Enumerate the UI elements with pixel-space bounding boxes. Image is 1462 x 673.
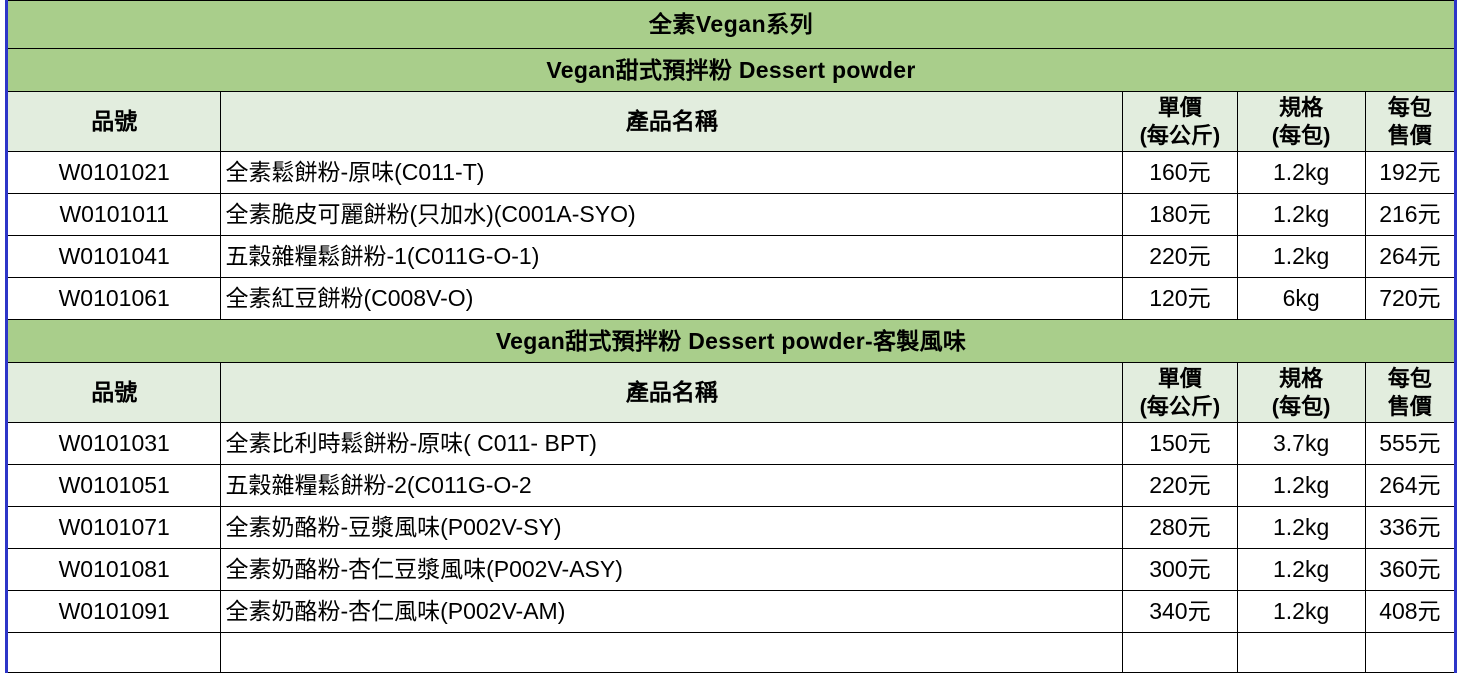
column-header-unit-price-line2: (每公斤)	[1127, 122, 1232, 150]
section-title-row-1: Vegan甜式預拌粉 Dessert powder	[7, 49, 1456, 92]
cell-spec	[1237, 633, 1365, 673]
cell-unit-price: 120元	[1123, 278, 1237, 320]
cell-spec: 1.2kg	[1237, 465, 1365, 507]
cell-name: 五穀雜糧鬆餅粉-2(C011G-O-2	[221, 465, 1123, 507]
column-header-code-2: 品號	[7, 363, 221, 423]
table-row: W0101051 五穀雜糧鬆餅粉-2(C011G-O-2 220元 1.2kg …	[7, 465, 1456, 507]
column-header-unit-price-1: 單價 (每公斤)	[1123, 92, 1237, 152]
cell-spec: 1.2kg	[1237, 507, 1365, 549]
table-row: W0101071 全素奶酪粉-豆漿風味(P002V-SY) 280元 1.2kg…	[7, 507, 1456, 549]
cell-spec: 1.2kg	[1237, 194, 1365, 236]
price-list-table: 全素Vegan系列 Vegan甜式預拌粉 Dessert powder 品號 產…	[5, 0, 1457, 673]
table-row-empty	[7, 633, 1456, 673]
cell-unit-price: 220元	[1123, 465, 1237, 507]
cell-code: W0101061	[7, 278, 221, 320]
cell-code: W0101071	[7, 507, 221, 549]
table-row: W0101091 全素奶酪粉-杏仁風味(P002V-AM) 340元 1.2kg…	[7, 591, 1456, 633]
column-header-code-1: 品號	[7, 92, 221, 152]
column-header-pack-price-1: 每包 售價	[1365, 92, 1455, 152]
cell-name: 全素奶酪粉-杏仁豆漿風味(P002V-ASY)	[221, 549, 1123, 591]
table-row: W0101041 五穀雜糧鬆餅粉-1(C011G-O-1) 220元 1.2kg…	[7, 236, 1456, 278]
cell-pack-price	[1365, 633, 1455, 673]
cell-name: 全素脆皮可麗餅粉(只加水)(C001A-SYO)	[221, 194, 1123, 236]
cell-name: 全素奶酪粉-豆漿風味(P002V-SY)	[221, 507, 1123, 549]
cell-name: 全素鬆餅粉-原味(C011-T)	[221, 152, 1123, 194]
section-title-1: Vegan甜式預拌粉 Dessert powder	[7, 49, 1456, 92]
cell-code: W0101031	[7, 423, 221, 465]
cell-name: 五穀雜糧鬆餅粉-1(C011G-O-1)	[221, 236, 1123, 278]
table-row: W0101011 全素脆皮可麗餅粉(只加水)(C001A-SYO) 180元 1…	[7, 194, 1456, 236]
cell-code: W0101091	[7, 591, 221, 633]
cell-name	[221, 633, 1123, 673]
cell-unit-price: 160元	[1123, 152, 1237, 194]
column-header-unit-price-line1: 單價	[1127, 365, 1232, 393]
column-header-row-1: 品號 產品名稱 單價 (每公斤) 規格 (每包) 每包 售價	[7, 92, 1456, 152]
cell-unit-price: 220元	[1123, 236, 1237, 278]
column-header-pack-price-line1: 每包	[1370, 365, 1450, 393]
cell-spec: 1.2kg	[1237, 549, 1365, 591]
table-row: W0101061 全素紅豆餅粉(C008V-O) 120元 6kg 720元	[7, 278, 1456, 320]
column-header-unit-price-line2: (每公斤)	[1127, 393, 1232, 421]
cell-pack-price: 360元	[1365, 549, 1455, 591]
price-list-body: 全素Vegan系列 Vegan甜式預拌粉 Dessert powder 品號 產…	[7, 1, 1456, 673]
cell-code: W0101021	[7, 152, 221, 194]
cell-pack-price: 264元	[1365, 465, 1455, 507]
cell-unit-price: 180元	[1123, 194, 1237, 236]
cell-spec: 1.2kg	[1237, 152, 1365, 194]
column-header-row-2: 品號 產品名稱 單價 (每公斤) 規格 (每包) 每包 售價	[7, 363, 1456, 423]
cell-spec: 3.7kg	[1237, 423, 1365, 465]
column-header-pack-price-line2: 售價	[1370, 122, 1450, 150]
column-header-spec-1: 規格 (每包)	[1237, 92, 1365, 152]
cell-pack-price: 264元	[1365, 236, 1455, 278]
cell-name: 全素奶酪粉-杏仁風味(P002V-AM)	[221, 591, 1123, 633]
cell-unit-price: 340元	[1123, 591, 1237, 633]
column-header-spec-line2: (每包)	[1242, 122, 1361, 150]
column-header-unit-price-line1: 單價	[1127, 94, 1232, 122]
cell-spec: 6kg	[1237, 278, 1365, 320]
table-row: W0101021 全素鬆餅粉-原味(C011-T) 160元 1.2kg 192…	[7, 152, 1456, 194]
cell-spec: 1.2kg	[1237, 236, 1365, 278]
cell-name: 全素比利時鬆餅粉-原味( C011- BPT)	[221, 423, 1123, 465]
cell-pack-price: 408元	[1365, 591, 1455, 633]
cell-pack-price: 336元	[1365, 507, 1455, 549]
column-header-name-2: 產品名稱	[221, 363, 1123, 423]
column-header-spec-line2: (每包)	[1242, 393, 1361, 421]
cell-name: 全素紅豆餅粉(C008V-O)	[221, 278, 1123, 320]
column-header-pack-price-line2: 售價	[1370, 393, 1450, 421]
cell-code: W0101081	[7, 549, 221, 591]
cell-code: W0101051	[7, 465, 221, 507]
cell-pack-price: 555元	[1365, 423, 1455, 465]
column-header-unit-price-2: 單價 (每公斤)	[1123, 363, 1237, 423]
column-header-name-1: 產品名稱	[221, 92, 1123, 152]
brand-title: 全素Vegan系列	[7, 1, 1456, 49]
column-header-spec-line1: 規格	[1242, 365, 1361, 393]
column-header-spec-2: 規格 (每包)	[1237, 363, 1365, 423]
column-header-pack-price-line1: 每包	[1370, 94, 1450, 122]
cell-code: W0101011	[7, 194, 221, 236]
price-list-sheet: 全素Vegan系列 Vegan甜式預拌粉 Dessert powder 品號 產…	[0, 0, 1462, 663]
cell-unit-price: 280元	[1123, 507, 1237, 549]
banner-row: 全素Vegan系列	[7, 1, 1456, 49]
table-row: W0101031 全素比利時鬆餅粉-原味( C011- BPT) 150元 3.…	[7, 423, 1456, 465]
cell-pack-price: 216元	[1365, 194, 1455, 236]
cell-pack-price: 720元	[1365, 278, 1455, 320]
cell-spec: 1.2kg	[1237, 591, 1365, 633]
section-title-row-2: Vegan甜式預拌粉 Dessert powder-客製風味	[7, 320, 1456, 363]
table-row: W0101081 全素奶酪粉-杏仁豆漿風味(P002V-ASY) 300元 1.…	[7, 549, 1456, 591]
cell-unit-price: 300元	[1123, 549, 1237, 591]
section-title-2: Vegan甜式預拌粉 Dessert powder-客製風味	[7, 320, 1456, 363]
cell-code	[7, 633, 221, 673]
cell-code: W0101041	[7, 236, 221, 278]
column-header-spec-line1: 規格	[1242, 94, 1361, 122]
cell-unit-price	[1123, 633, 1237, 673]
cell-unit-price: 150元	[1123, 423, 1237, 465]
column-header-pack-price-2: 每包 售價	[1365, 363, 1455, 423]
cell-pack-price: 192元	[1365, 152, 1455, 194]
